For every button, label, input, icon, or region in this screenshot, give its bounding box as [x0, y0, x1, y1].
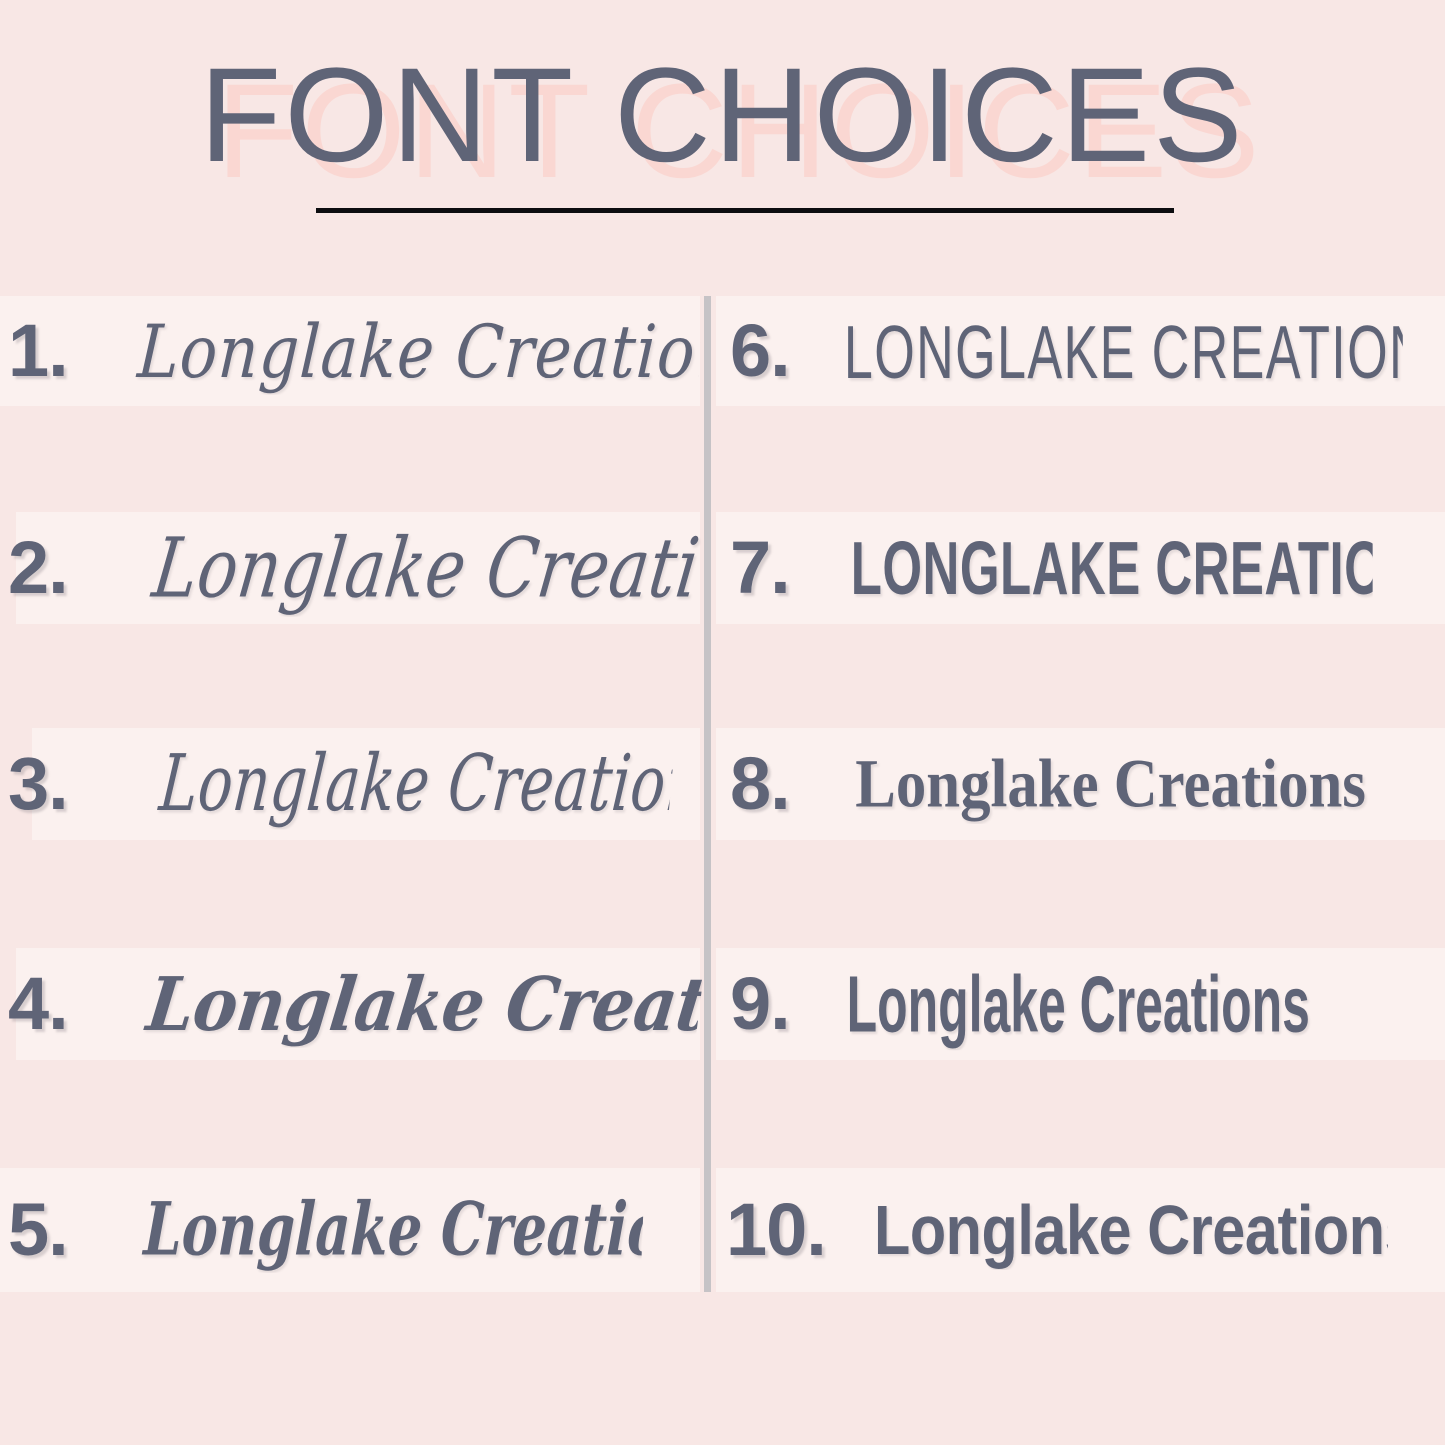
font-option-2[interactable]: 2. Longlake Creations: [0, 513, 700, 623]
font-option-8-number: 8.: [716, 747, 842, 821]
font-option-2-sample: Longlake Creations: [120, 520, 706, 616]
font-option-9-number: 9.: [716, 967, 842, 1041]
font-option-3-sample: Longlake Creations: [122, 739, 675, 830]
font-option-9[interactable]: 9. Longlake Creations: [716, 949, 1445, 1059]
font-option-5-number: 5.: [0, 1193, 126, 1267]
font-option-6-sample: LONGLAKE CREATIONS: [842, 307, 1403, 395]
font-option-8-sample: Longlake Creations: [842, 744, 1415, 824]
font-option-7-sample: LONGLAKE CREATIONS: [842, 524, 1373, 611]
font-option-1[interactable]: 1. Longlake Creations: [0, 296, 700, 406]
font-option-2-number: 2.: [0, 531, 126, 605]
font-option-8[interactable]: 8. Longlake Creations: [716, 729, 1445, 839]
font-option-7-number: 7.: [716, 531, 842, 605]
font-option-1-sample: Longlake Creations: [123, 308, 702, 394]
font-option-9-sample: Longlake Creations: [842, 958, 1312, 1051]
font-option-6-number: 6.: [716, 314, 842, 388]
font-option-6[interactable]: 6. LONGLAKE CREATIONS: [716, 296, 1445, 406]
font-option-7[interactable]: 7. LONGLAKE CREATIONS: [716, 513, 1445, 623]
font-option-10[interactable]: 10. Longlake Creations: [716, 1175, 1445, 1285]
font-option-4-number: 4.: [0, 967, 126, 1041]
font-option-10-sample: Longlake Creations: [874, 1190, 1388, 1270]
font-option-4-sample: Longlake Creations: [121, 960, 706, 1047]
font-option-1-number: 1.: [0, 314, 126, 388]
font-option-5[interactable]: 5. Longlake Creations: [0, 1175, 700, 1285]
font-option-3-number: 3.: [0, 747, 126, 821]
font-option-10-number: 10.: [716, 1193, 874, 1267]
font-option-3[interactable]: 3. Longlake Creations: [0, 729, 700, 839]
font-list: 1. Longlake Creations 2. Longlake Creati…: [0, 0, 1445, 1445]
font-choices-poster: FONT CHOICES 1. Longlake Creations 2. Lo…: [0, 0, 1445, 1445]
font-option-5-sample: Longlake Creations: [124, 1187, 644, 1272]
font-option-4[interactable]: 4. Longlake Creations: [0, 949, 700, 1059]
